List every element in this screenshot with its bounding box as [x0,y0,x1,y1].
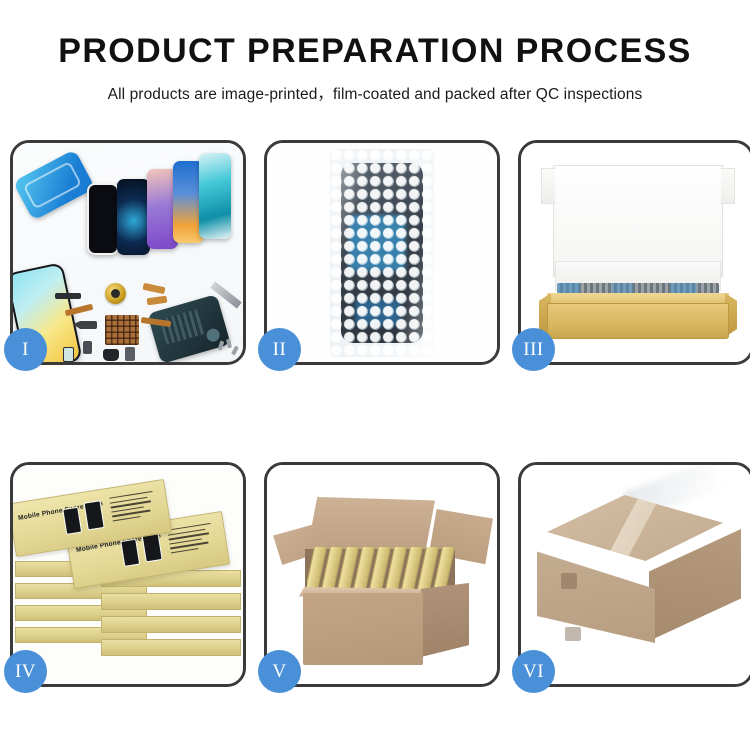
carton-handle-notch-2 [565,627,581,641]
phone-screen-dark-blue [117,179,150,255]
step-panel-i: I [10,140,246,365]
step-badge-v: V [258,650,301,693]
step-image-i [13,143,243,362]
carton-front-panel [303,593,423,665]
box-spec-lines [167,522,221,557]
phone-backplate-blue [13,149,95,221]
stacked-box [101,593,241,610]
product-preparation-infographic: PRODUCT PREPARATION PROCESS All products… [0,0,750,750]
step-panel-vi: VI [518,462,750,687]
flex-cable-1 [143,283,166,294]
open-mailer-box [539,165,737,345]
retail-box-stack: Mobile Phone Spare Parts Mobile Phone Sp… [15,477,243,677]
box-spec-lines [109,490,163,525]
flex-cable-2 [147,296,168,306]
stacked-box [101,616,241,633]
phone-screen-teal [199,153,231,239]
step-image-iv: Mobile Phone Spare Parts Mobile Phone Sp… [13,465,243,684]
connector-part-b [73,321,97,329]
connector-part-a [55,293,81,299]
step-image-ii [267,143,497,362]
phone-screen-white-frame [87,183,119,255]
screws-group [219,339,241,359]
step-badge-i: I [4,328,47,371]
step-badge-iv: IV [4,650,47,693]
speaker-coil-part [105,283,126,304]
bubble-wrap-package [330,149,434,357]
mailer-tray-front [547,303,729,339]
connector-part-c [83,341,92,354]
step-panel-v: V [264,462,500,687]
open-carton [281,491,487,667]
step-image-iii [521,143,750,362]
page-title: PRODUCT PREPARATION PROCESS [0,34,750,70]
steps-grid: I II [10,140,740,687]
sealed-carton [537,495,741,661]
step-badge-ii: II [258,328,301,371]
carton-contents-boxes [307,547,457,593]
step-panel-iv: Mobile Phone Spare Parts Mobile Phone Sp… [10,462,246,687]
step-image-vi [521,465,750,684]
step-panel-iii: III [518,140,750,365]
header: PRODUCT PREPARATION PROCESS All products… [0,0,750,104]
connector-part-e [125,347,135,361]
step-image-v [267,465,497,684]
plastic-sheen [330,149,434,357]
step-badge-iii: III [512,328,555,371]
stacked-box [101,639,241,656]
connector-part-d [103,349,119,361]
connector-part-f [63,347,74,362]
step-badge-vi: VI [512,650,555,693]
grid-chip-part [105,315,139,345]
step-panel-ii: II [264,140,500,365]
page-subtitle: All products are image-printed，film-coat… [0,82,750,104]
carton-side-panel [421,583,469,657]
carton-handle-notch-1 [561,573,577,589]
